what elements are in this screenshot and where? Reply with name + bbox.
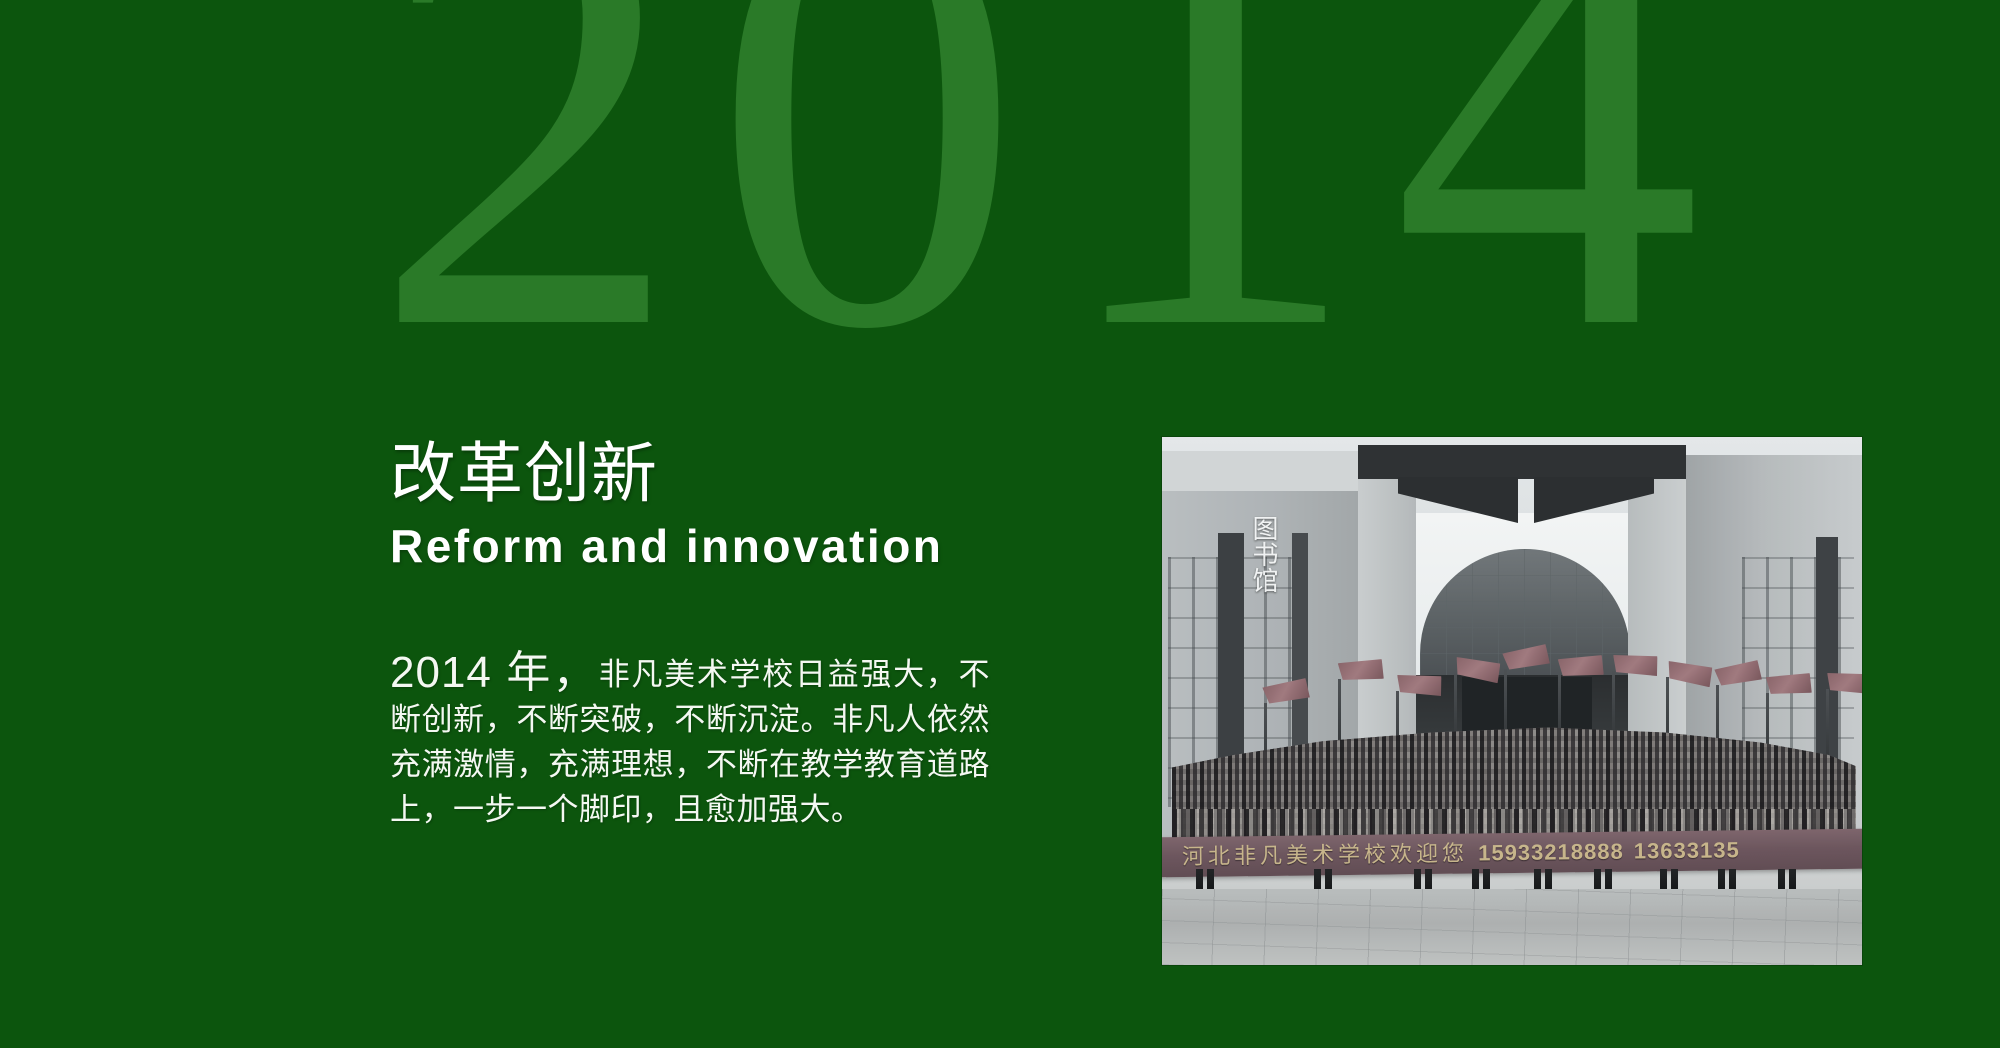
red-flag bbox=[1262, 674, 1311, 710]
banner-phone-primary: 15933218888 bbox=[1478, 839, 1624, 866]
red-flag bbox=[1558, 651, 1606, 683]
photo-frame: 图书馆 河北非凡美术学校欢迎您 15933218888 13633135 bbox=[1162, 437, 1862, 965]
welcome-banner-text: 河北非凡美术学校欢迎您 15933218888 13633135 bbox=[1182, 834, 1862, 873]
red-flag bbox=[1667, 661, 1712, 687]
building-left-parapet bbox=[1162, 451, 1358, 491]
page-title-en: Reform and innovation bbox=[390, 516, 950, 576]
red-flag bbox=[1613, 652, 1659, 679]
text-column: 改革创新 Reform and innovation 2014 年，非凡美术学校… bbox=[390, 434, 1010, 832]
banner-phone-secondary: 13633135 bbox=[1634, 837, 1740, 863]
red-flag bbox=[1397, 672, 1443, 699]
page-title-cn: 改革创新 bbox=[390, 434, 1010, 512]
plaza-pavement bbox=[1162, 889, 1862, 965]
red-flag bbox=[1766, 669, 1814, 701]
watermark-year: 2014 bbox=[372, 0, 2000, 474]
library-sign-text: 图书馆 bbox=[1240, 515, 1282, 593]
body-block: 2014 年，非凡美术学校日益强大，不断创新，不断突破，不断沉淀。非凡人依然充满… bbox=[390, 650, 990, 832]
group-photo-image: 图书馆 河北非凡美术学校欢迎您 15933218888 13633135 bbox=[1162, 437, 1862, 965]
body-lead: 2014 年， bbox=[390, 648, 599, 697]
red-flag bbox=[1827, 670, 1862, 697]
banner-school-name: 河北非凡美术学校欢迎您 bbox=[1182, 841, 1468, 869]
red-flag bbox=[1338, 655, 1386, 687]
red-flag bbox=[1455, 657, 1500, 683]
slide-root: 2014 改革创新 Reform and innovation 2014 年，非… bbox=[0, 0, 2000, 1048]
body-paragraph: 2014 年，非凡美术学校日益强大，不断创新，不断突破，不断沉淀。非凡人依然充满… bbox=[390, 650, 990, 832]
portal-lintel bbox=[1358, 445, 1686, 479]
red-flag bbox=[1714, 656, 1763, 692]
